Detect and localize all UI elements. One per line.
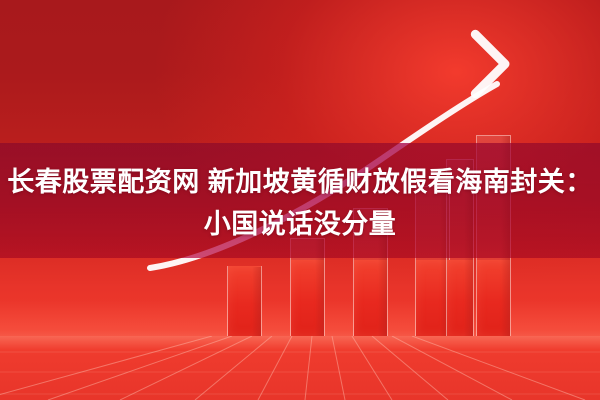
promo-banner: 长春股票配资网 新加坡黄循财放假看海南封关： 小国说话没分量 bbox=[0, 0, 600, 400]
headline-line-1: 长春股票配资网 新加坡黄循财放假看海南封关： bbox=[7, 167, 593, 197]
headline-line-2: 小国说话没分量 bbox=[0, 203, 600, 245]
page-title: 长春股票配资网 新加坡黄循财放假看海南封关： 小国说话没分量 bbox=[0, 161, 600, 245]
bar-1 bbox=[227, 266, 262, 336]
bar-1-shade bbox=[252, 267, 261, 336]
